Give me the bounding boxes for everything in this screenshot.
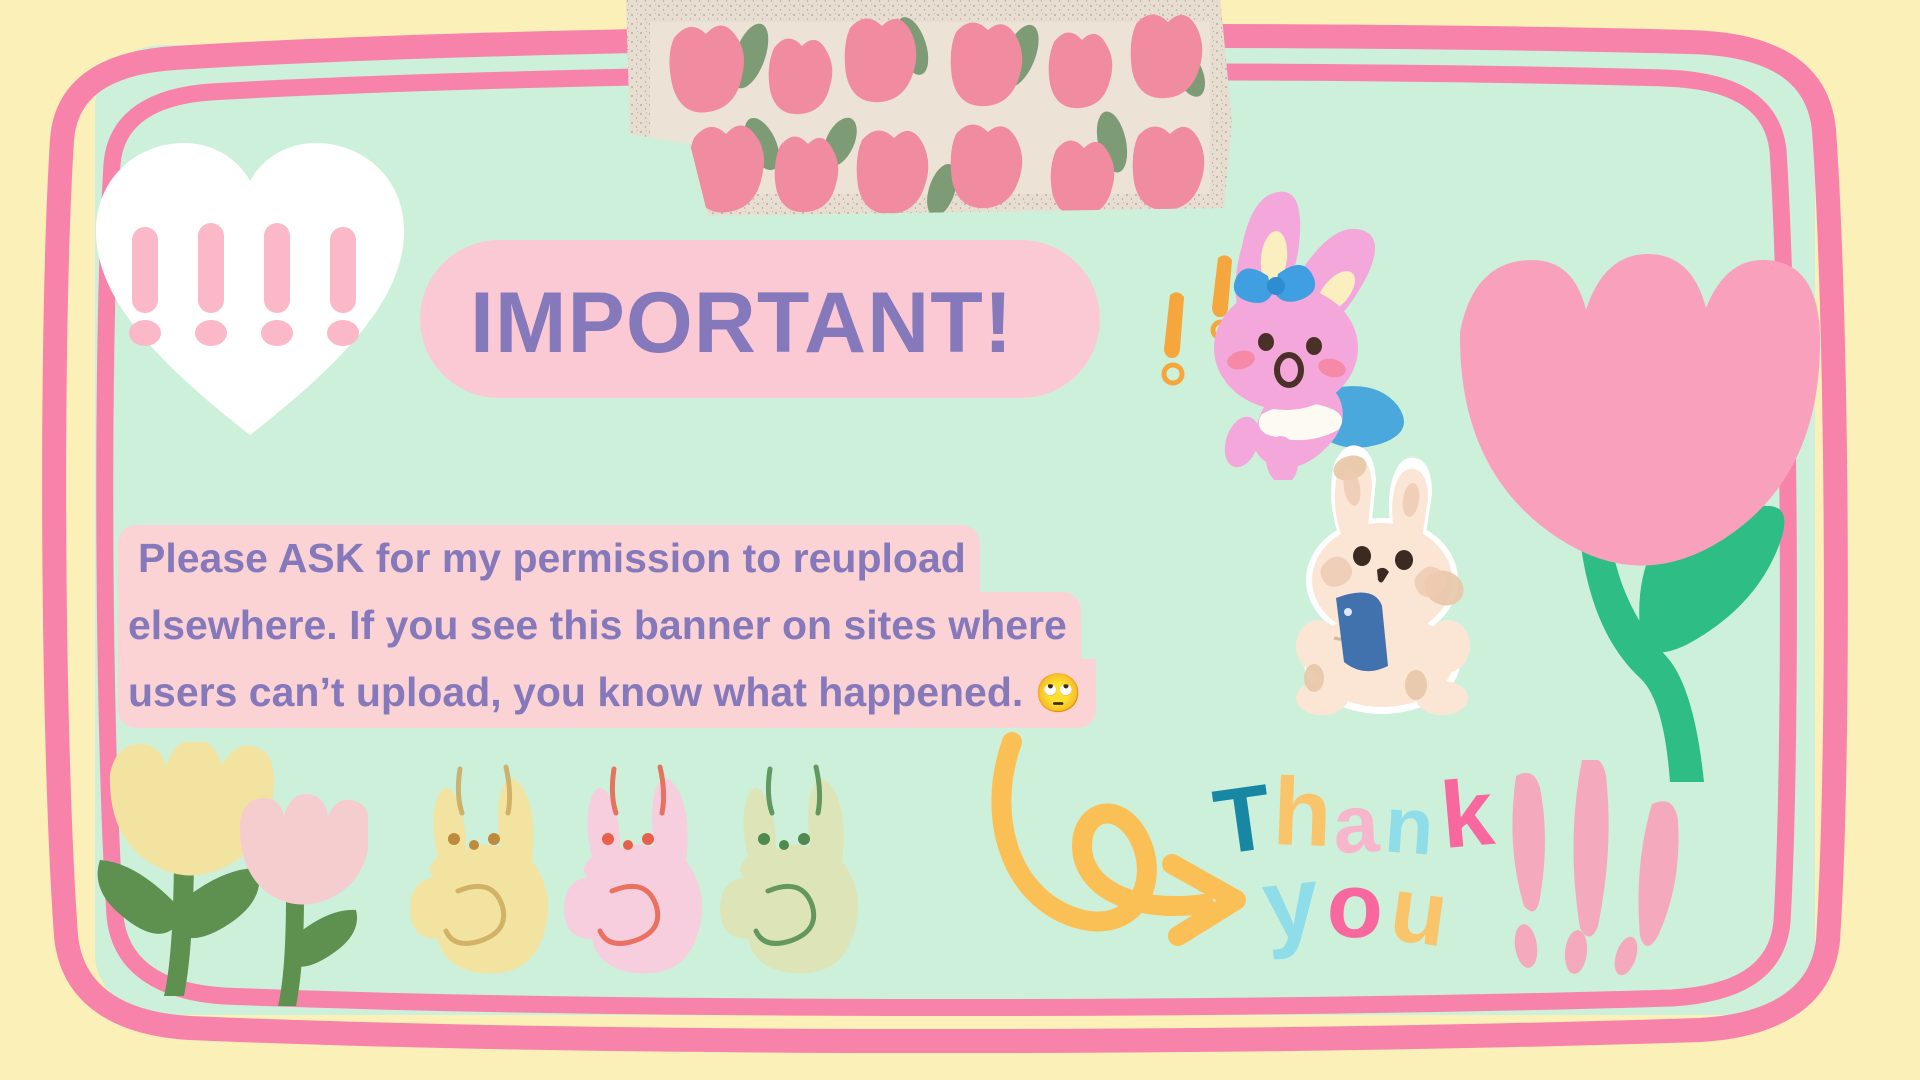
thank-you-lettering: T h a n k y o u (1215, 750, 1525, 950)
flying-bunny-sticker (1110, 180, 1430, 480)
banner-canvas: IMPORTANT! Please ASK for my permission … (0, 0, 1920, 1080)
page-title: IMPORTANT! (470, 268, 1110, 378)
body-line-2: elsewhere. If you see this banner on sit… (118, 592, 1081, 659)
pink-exclamation-petals (1480, 760, 1780, 1000)
tulip-pink (240, 794, 368, 1006)
ty-letter-o: o (1324, 853, 1386, 961)
small-tulips-sticker (88, 742, 368, 1014)
ty-letter-k: k (1436, 758, 1497, 870)
large-tulip-sticker (1420, 250, 1820, 830)
ty-letter-y: y (1257, 843, 1324, 963)
body-line-3: users can’t upload, you know what happen… (118, 659, 1096, 728)
body-line-1: Please ASK for my permission to reupload (118, 525, 980, 592)
tulip-yellow (98, 742, 274, 996)
candy-bunny-yellow (408, 745, 908, 995)
body-line-3-text: users can’t upload, you know what happen… (128, 669, 1023, 715)
body-text-block: Please ASK for my permission to reupload… (118, 525, 998, 728)
rolling-eyes-emoji: 🙄 (1035, 673, 1082, 715)
white-heart-sticker (90, 135, 410, 445)
